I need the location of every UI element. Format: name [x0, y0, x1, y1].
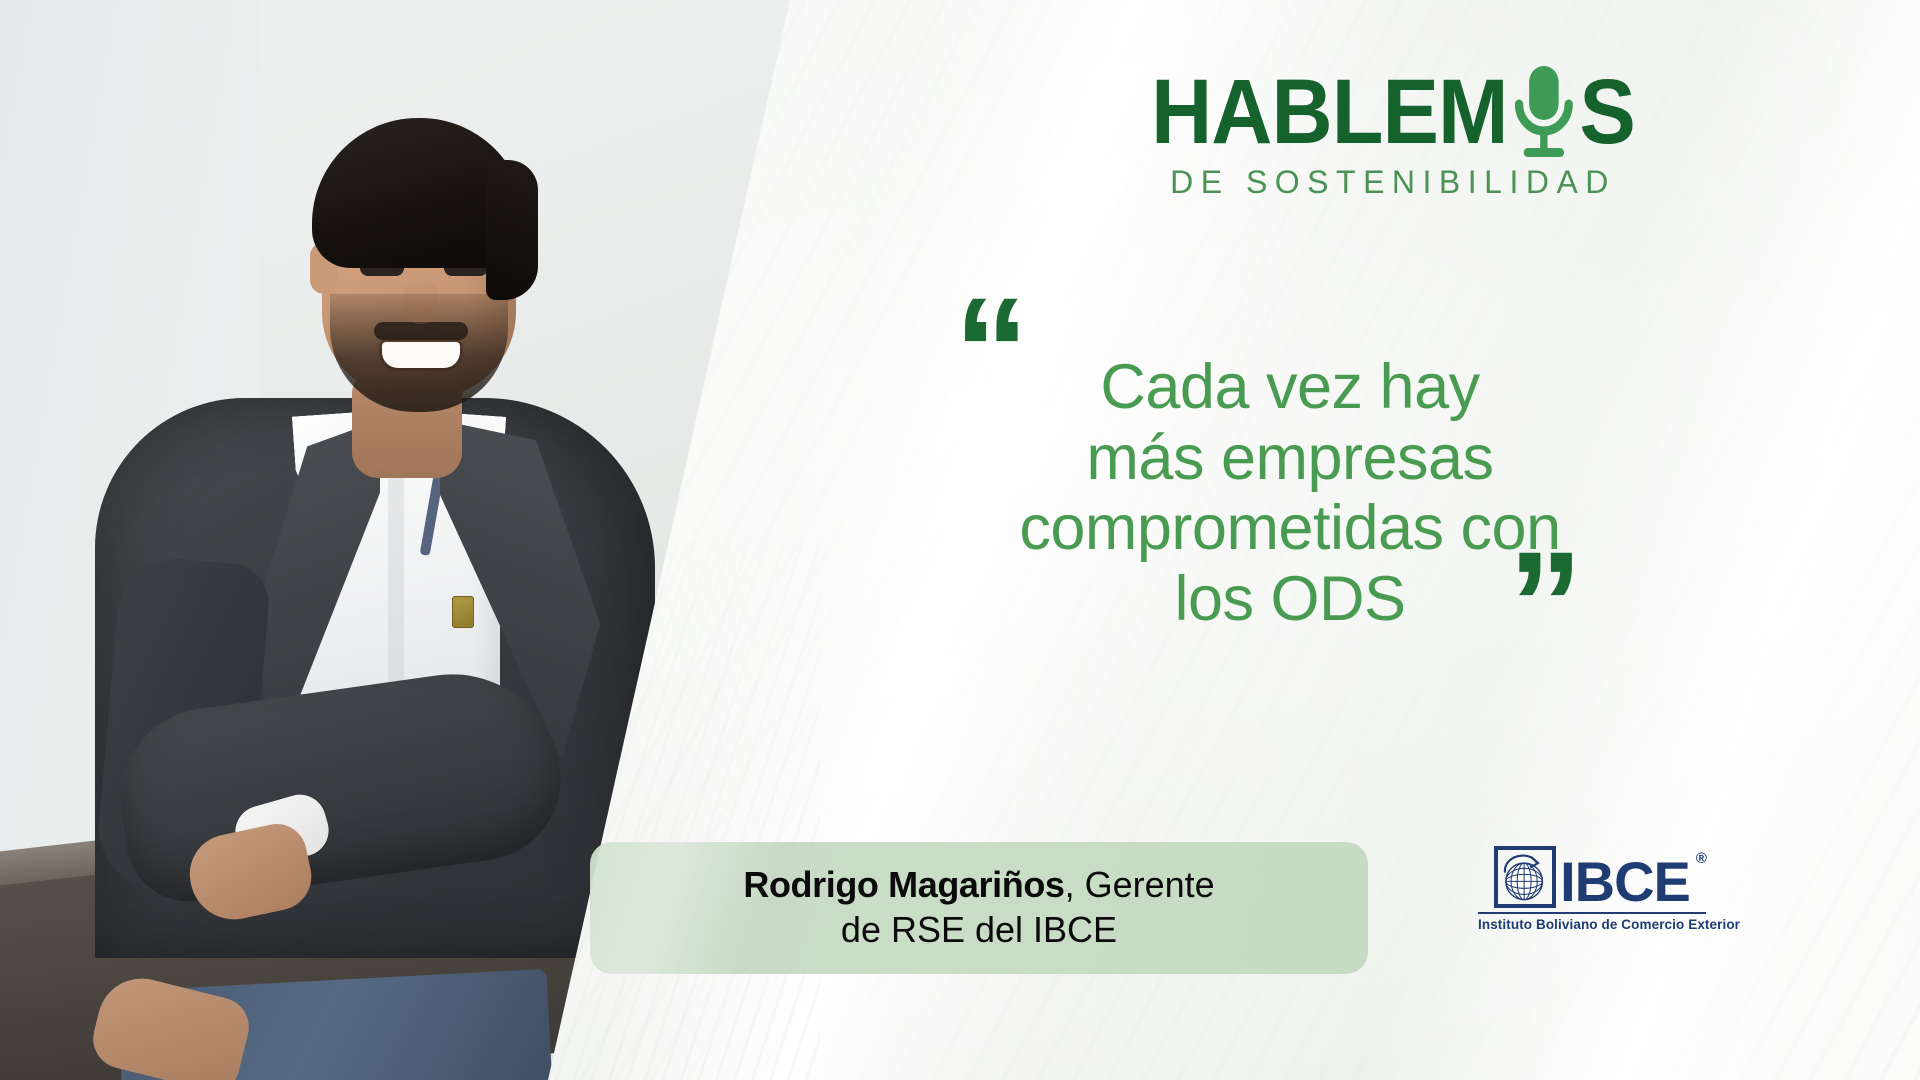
ibce-acronym-text: IBCE	[1560, 850, 1690, 913]
ibce-tagline: Instituto Boliviano de Comercio Exterior	[1478, 917, 1706, 932]
hair-side	[486, 160, 538, 300]
program-logo-subtitle: DE SOSTENIBILIDAD	[1168, 164, 1618, 201]
lapel-pin-icon	[452, 596, 474, 628]
quote-text: Cada vez hay más empresas comprometidas …	[900, 352, 1680, 634]
speaker-role-part-1: , Gerente	[1065, 864, 1215, 905]
program-logo: HABLEM S DE SOSTENIBILIDAD	[1168, 64, 1618, 201]
logo-word-part-2: S	[1579, 68, 1635, 156]
program-logo-wordmark: HABLEM S	[1186, 64, 1600, 160]
quote-line: más empresas	[900, 423, 1680, 494]
logo-word-part-1: HABLEM	[1151, 68, 1508, 156]
quote-line: los ODS	[900, 564, 1680, 635]
speaker-role-part-2: de RSE del IBCE	[743, 908, 1214, 953]
nose	[404, 278, 438, 324]
ibce-acronym: IBCE ®	[1560, 856, 1690, 908]
quote-line: Cada vez hay	[900, 352, 1680, 423]
speaker-caption: Rodrigo Magariños, Gerente de RSE del IB…	[709, 863, 1248, 952]
microphone-icon	[1509, 64, 1577, 160]
registered-mark-icon: ®	[1696, 852, 1706, 866]
promo-graphic-canvas: HABLEM S DE SOSTENIBILIDAD “ ” Cada vez …	[0, 0, 1920, 1080]
speaker-name-banner: Rodrigo Magariños, Gerente de RSE del IB…	[590, 842, 1368, 974]
quote-line: comprometidas con	[900, 493, 1680, 564]
globe-arrow-icon	[1494, 846, 1556, 908]
mouth	[382, 342, 460, 368]
mustache	[374, 322, 468, 340]
speaker-name: Rodrigo Magariños	[743, 864, 1064, 905]
ibce-logo: IBCE ® Instituto Boliviano de Comercio E…	[1478, 846, 1706, 932]
